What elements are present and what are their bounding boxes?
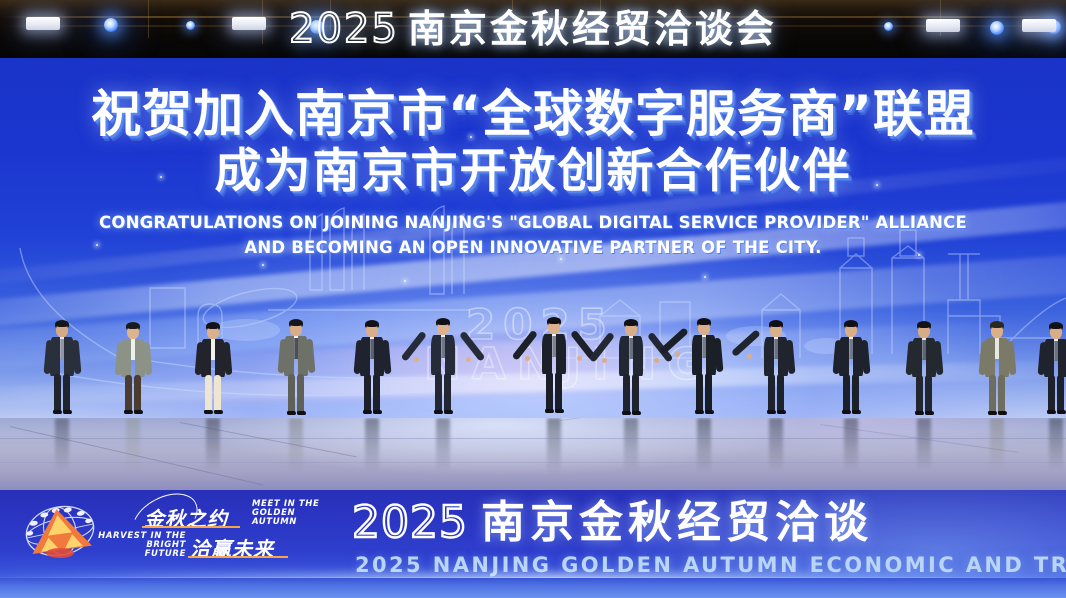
person-jacket-left	[619, 336, 629, 376]
slogan-en-primary-l3: AUTUMN	[252, 518, 319, 527]
person-hand-left	[525, 356, 530, 361]
stage-floor	[0, 418, 1066, 490]
slogan-en-secondary-l3: FUTURE	[88, 550, 186, 559]
person-figure	[759, 320, 793, 418]
person-leg-right	[214, 375, 221, 413]
person-hair-top	[698, 319, 711, 325]
person-jacket-right	[445, 335, 455, 375]
person-leg-right	[444, 373, 451, 413]
person-leg-left	[1048, 375, 1055, 413]
person-leg-left	[288, 374, 295, 414]
banner-title-lockup: 2025 南京金秋经贸洽谈	[352, 501, 873, 545]
person-shoe-right	[1057, 410, 1066, 414]
person-reflection	[769, 418, 783, 472]
person-shoe-left	[767, 410, 776, 414]
person-hair-top	[770, 321, 783, 327]
person-arm-right	[459, 331, 485, 362]
person-leg-left	[989, 375, 996, 414]
person-shoe-right	[444, 410, 453, 414]
person-arm-left-raised	[659, 327, 689, 355]
person-hair-top	[207, 323, 220, 329]
bottom-rail	[0, 578, 1066, 598]
person-leg-left	[768, 374, 775, 413]
screenshot-root: 2025 南京金秋经贸洽谈会	[0, 0, 1066, 598]
person-reflection	[365, 418, 379, 472]
person-figure	[196, 322, 230, 418]
person-jacket-left	[431, 335, 441, 375]
person-reflection	[624, 418, 638, 472]
person-reflection	[1049, 418, 1063, 471]
person-hand-right	[577, 356, 582, 361]
person-reflection	[55, 418, 69, 472]
person-hand-left	[602, 358, 607, 363]
person-hair-top	[437, 319, 450, 325]
person-figure	[537, 317, 571, 418]
person-hand-left	[414, 357, 419, 362]
person-leg-right	[852, 374, 859, 413]
person-reflection	[697, 418, 711, 473]
person-figure	[355, 320, 389, 418]
person-hair-top	[548, 318, 561, 324]
person-leg-right	[925, 375, 932, 414]
person-shoe-left	[988, 411, 997, 415]
person-reflection	[436, 418, 450, 473]
person-hair-top	[1050, 323, 1063, 329]
person-figure	[834, 320, 868, 418]
banner-year: 2025	[352, 501, 468, 545]
person-hair-top	[845, 321, 858, 327]
person-shoe-right	[555, 409, 564, 413]
person-hair-top	[625, 320, 638, 326]
person-jacket-right	[556, 334, 566, 374]
person-jacket-left	[542, 334, 552, 374]
person-shoe-right	[134, 410, 143, 414]
person-reflection	[917, 418, 931, 471]
person-figure	[426, 318, 460, 418]
person-leg-right	[373, 374, 380, 413]
person-hair-top	[56, 321, 69, 327]
person-leg-left	[364, 374, 371, 413]
person-shoe-right	[852, 410, 861, 414]
person-shoe-right	[297, 411, 306, 415]
person-shoe-right	[632, 411, 641, 415]
person-figure	[1039, 322, 1066, 418]
person-leg-left	[205, 375, 212, 413]
person-leg-right	[297, 374, 304, 414]
person-leg-left	[623, 374, 630, 414]
person-hair-top	[366, 321, 379, 327]
person-leg-right	[632, 374, 639, 414]
person-figure	[907, 321, 941, 418]
person-figure	[45, 320, 79, 418]
slogan-underline	[142, 526, 240, 528]
person-shoe-right	[705, 410, 714, 414]
slogan-cn-secondary: 洽赢未来	[190, 533, 274, 562]
person-leg-left	[546, 372, 553, 412]
person-shoe-right	[925, 411, 934, 415]
person-leg-left	[125, 375, 132, 413]
banner-title-cn: 南京金秋经贸洽谈	[481, 501, 873, 545]
person-reflection	[547, 418, 561, 474]
slogan-underline	[188, 556, 288, 558]
person-hair-top	[127, 323, 140, 329]
person-shoe-right	[63, 410, 72, 414]
slogan-en-secondary: HARVEST IN THE BRIGHT FUTURE	[88, 532, 186, 559]
people-on-stage	[0, 0, 1066, 418]
person-leg-left	[54, 374, 61, 413]
person-leg-right	[998, 375, 1005, 414]
person-figure	[687, 318, 721, 418]
person-shoe-left	[915, 411, 924, 415]
person-reflection	[206, 418, 220, 471]
person-arm-left-raised	[731, 329, 761, 357]
person-leg-right	[705, 373, 712, 413]
person-shoe-left	[53, 410, 62, 414]
person-shoe-right	[214, 410, 223, 414]
person-leg-right	[134, 375, 141, 413]
floor-seam	[0, 438, 1066, 439]
person-leg-left	[696, 373, 703, 413]
person-reflection	[844, 418, 858, 472]
person-shoe-right	[373, 410, 382, 414]
person-shoe-left	[434, 410, 443, 414]
floor-seam	[0, 462, 1066, 463]
person-hair-top	[918, 322, 931, 328]
person-figure	[116, 322, 150, 418]
person-hand-right	[466, 357, 471, 362]
person-leg-right	[1057, 375, 1064, 413]
person-hand-right	[654, 358, 659, 363]
floor-sheen	[0, 418, 1066, 490]
person-jacket-left	[692, 335, 702, 375]
person-reflection	[126, 418, 140, 471]
person-shoe-left	[842, 410, 851, 414]
person-shoe-left	[695, 410, 704, 414]
person-shoe-right	[777, 410, 786, 414]
person-figure	[279, 319, 313, 418]
person-shoe-right	[998, 411, 1007, 415]
person-figure	[980, 321, 1014, 418]
person-leg-left	[435, 373, 442, 413]
person-shoe-left	[124, 410, 133, 414]
slogan-en-primary: MEET IN THE GOLDEN AUTUMN	[252, 500, 319, 527]
person-leg-left	[916, 375, 923, 414]
person-jacket-right	[633, 336, 643, 376]
person-shoe-left	[204, 410, 213, 414]
person-leg-right	[555, 372, 562, 412]
person-shoe-left	[545, 409, 554, 413]
person-hair-top	[991, 322, 1004, 328]
person-shoe-left	[1047, 410, 1056, 414]
person-jacket-left	[764, 337, 774, 376]
person-shoe-left	[363, 410, 372, 414]
person-leg-left	[843, 374, 850, 413]
person-leg-right	[777, 374, 784, 413]
person-shoe-left	[287, 411, 296, 415]
person-figure	[614, 319, 648, 418]
person-hand-left	[747, 354, 752, 359]
person-reflection	[990, 418, 1004, 471]
slogan-cn-primary: 金秋之约	[144, 503, 228, 532]
event-slogan-lockup: 金秋之约 MEET IN THE GOLDEN AUTUMN HARVEST I…	[112, 496, 367, 568]
person-shoe-left	[622, 411, 631, 415]
person-leg-right	[63, 374, 70, 413]
person-hand-left	[675, 352, 680, 357]
person-hair-top	[290, 320, 303, 326]
